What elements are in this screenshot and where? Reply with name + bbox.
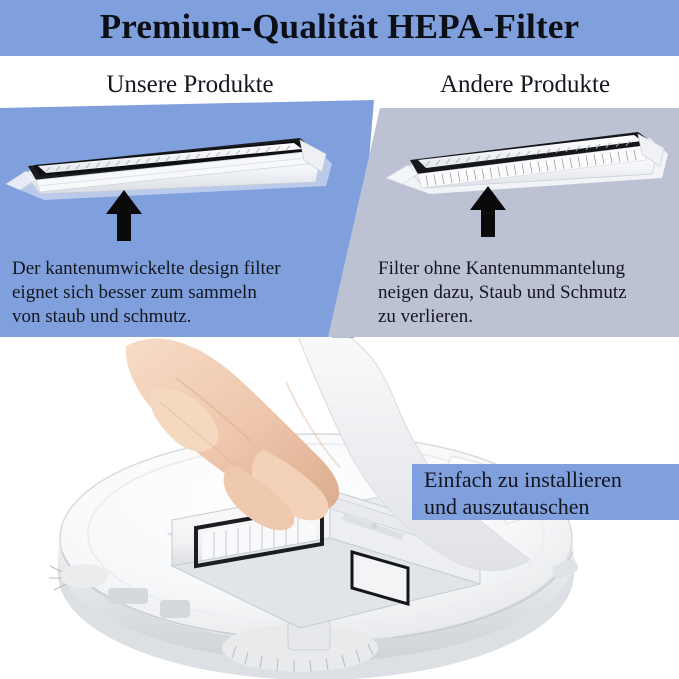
edge-sealed-hepa-filter-icon (4, 128, 334, 224)
caption-line: Einfach zu installieren (424, 466, 679, 493)
installation-caption: Einfach zu installieren und auszutausche… (424, 466, 679, 520)
filter-image-other-product (382, 120, 672, 220)
description-other-products: Filter ohne Kantenummantelung neigen daz… (378, 257, 678, 329)
column-heading-our-products: Unsere Produkte (40, 68, 340, 102)
open-edge-hepa-filter-icon (382, 120, 672, 220)
description-line: von staub und schmutz. (12, 305, 332, 329)
product-infographic: Premium-Qualität HEPA-Filter Unsere Prod… (0, 0, 679, 679)
description-line: eignet sich besser zum sammeln (12, 281, 332, 305)
column-heading-other-products: Andere Produkte (380, 68, 670, 102)
description-line: zu verlieren. (378, 305, 678, 329)
description-our-products: Der kantenumwickelte design filter eigne… (12, 257, 332, 329)
description-line: neigen dazu, Staub und Schmutz (378, 281, 678, 305)
caption-line: und auszutauschen (424, 493, 679, 520)
page-title: Premium-Qualität HEPA-Filter (0, 4, 679, 50)
filter-image-our-product (4, 128, 334, 224)
description-line: Der kantenumwickelte design filter (12, 257, 332, 281)
description-line: Filter ohne Kantenummantelung (378, 257, 678, 281)
